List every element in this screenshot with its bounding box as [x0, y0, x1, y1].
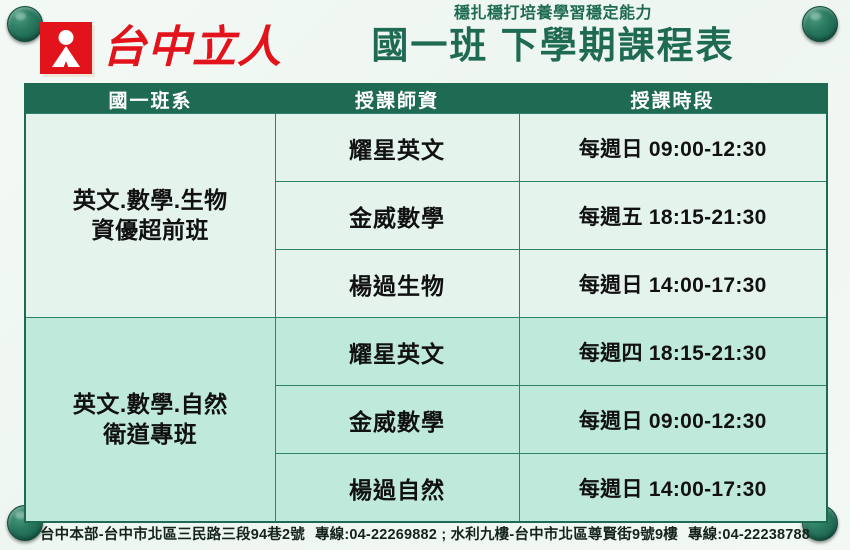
class-group-name-b-line2: 衛道專班: [26, 420, 275, 449]
teacher-cell: 金威數學: [275, 386, 519, 454]
teacher-cell: 楊過生物: [275, 250, 519, 318]
class-group-name-a-line1: 英文.數學.生物: [26, 186, 275, 215]
person-leg-gap-shape: [61, 61, 71, 74]
teacher-cell: 耀星英文: [275, 318, 519, 386]
table-row: 英文.數學.生物 資優超前班 耀星英文 每週日 09:00-12:30: [25, 114, 827, 182]
page-title: 國一班 下學期課程表: [318, 26, 788, 66]
class-group-name-b: 英文.數學.自然 衛道專班: [25, 318, 275, 523]
time-cell: 每週日 09:00-12:30: [519, 114, 827, 182]
class-group-name-a: 英文.數學.生物 資優超前班: [25, 114, 275, 318]
footer-divider: ;: [441, 527, 446, 543]
time-cell: 每週五 18:15-21:30: [519, 182, 827, 250]
branch-one-phone: 專線:04-22269882: [315, 527, 437, 543]
time-cell: 每週日 14:00-17:30: [519, 454, 827, 523]
course-schedule-table: 國一班系 授課師資 授課時段 英文.數學.生物 資優超前班 耀星英文 每週日 0…: [24, 83, 828, 523]
teacher-cell: 耀星英文: [275, 114, 519, 182]
table-row: 英文.數學.自然 衛道專班 耀星英文 每週四 18:15-21:30: [25, 318, 827, 386]
brand-name: 台中立人: [102, 26, 282, 70]
time-cell: 每週日 14:00-17:30: [519, 250, 827, 318]
contact-footer: 台中本部-台中市北區三民路三段94巷2號專線:04-22269882 ; 水利九…: [0, 523, 850, 544]
title-block: 穩扎穩打培養學習穩定能力 國一班 下學期課程表: [318, 4, 788, 66]
branch-two-address: 水利九樓-台中市北區尊賢街9號9樓: [451, 527, 678, 543]
column-header-teacher: 授課師資: [275, 84, 519, 114]
person-head-shape: [59, 30, 74, 45]
teacher-cell: 楊過自然: [275, 454, 519, 523]
poster-header: 台中立人 穩扎穩打培養學習穩定能力 國一班 下學期課程表: [0, 0, 850, 86]
time-cell: 每週四 18:15-21:30: [519, 318, 827, 386]
column-header-time: 授課時段: [519, 84, 827, 114]
poster-page: 台中立人 穩扎穩打培養學習穩定能力 國一班 下學期課程表 國一班系 授課師資 授…: [0, 0, 850, 550]
class-group-name-a-line2: 資優超前班: [26, 216, 275, 245]
branch-one-address: 台中本部-台中市北區三民路三段94巷2號: [40, 527, 305, 543]
branch-two-phone: 專線:04-22238788: [688, 527, 810, 543]
table-header-row: 國一班系 授課師資 授課時段: [25, 84, 827, 114]
teacher-cell: 金威數學: [275, 182, 519, 250]
time-cell: 每週日 09:00-12:30: [519, 386, 827, 454]
poster-subtitle: 穩扎穩打培養學習穩定能力: [318, 4, 788, 25]
column-header-class: 國一班系: [25, 84, 275, 114]
person-figure-icon: [40, 22, 92, 74]
brand-logo: 台中立人: [40, 22, 282, 74]
class-group-name-b-line1: 英文.數學.自然: [26, 390, 275, 419]
